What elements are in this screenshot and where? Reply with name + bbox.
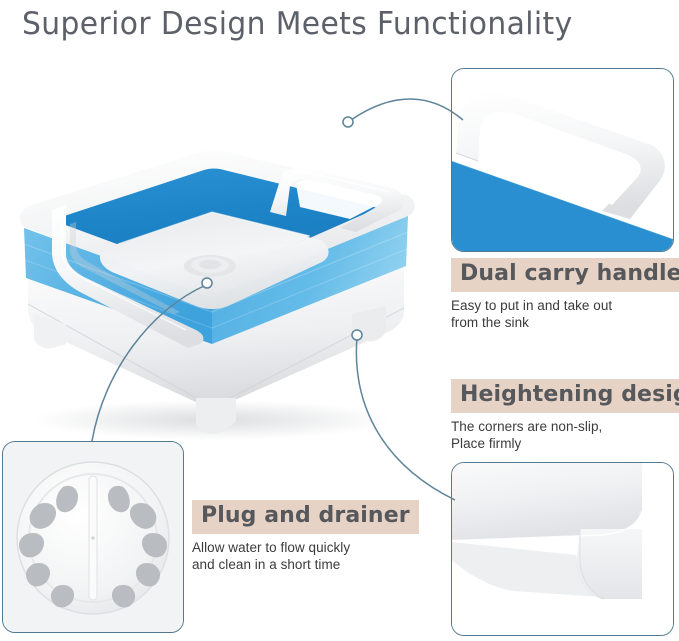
callout-plug-label: Plug and drainer bbox=[192, 500, 419, 534]
callout-foot-label: Heightening design bbox=[451, 379, 679, 413]
detail-box-plug bbox=[2, 441, 184, 633]
detail-box-foot bbox=[451, 462, 674, 636]
callout-foot-description: The corners are non-slip, Place firmly bbox=[451, 418, 679, 452]
product-image bbox=[0, 68, 430, 440]
callout-handle-label: Dual carry handle bbox=[451, 258, 679, 292]
callout-plug: Plug and drainer Allow water to flow qui… bbox=[192, 500, 419, 573]
callout-handle-description: Easy to put in and take out from the sin… bbox=[451, 297, 679, 331]
page-title: Superior Design Meets Functionality bbox=[22, 4, 636, 44]
infographic-canvas: Superior Design Meets Functionality bbox=[0, 0, 679, 641]
detail-box-handle bbox=[451, 68, 674, 252]
callout-plug-description: Allow water to flow quickly and clean in… bbox=[192, 539, 419, 573]
callout-handle: Dual carry handle Easy to put in and tak… bbox=[451, 258, 679, 331]
callout-foot: Heightening design The corners are non-s… bbox=[451, 379, 679, 452]
